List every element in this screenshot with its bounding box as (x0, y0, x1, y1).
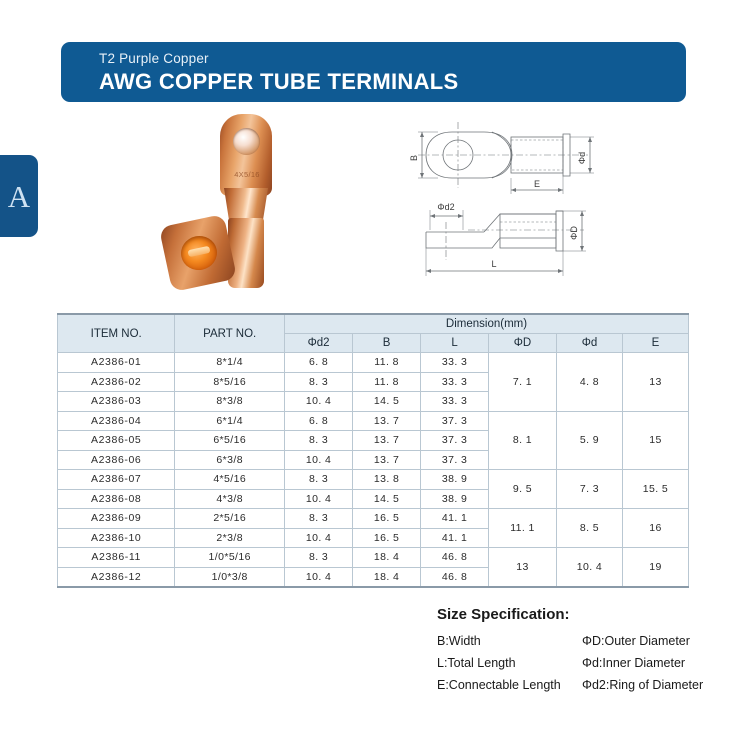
cell-l: 46. 8 (421, 548, 489, 568)
lug-barrel (228, 218, 264, 288)
drawing-side-view (426, 210, 586, 276)
table-row: A2386-092*5/168. 316. 541. 111. 18. 516 (58, 509, 689, 529)
cell-b: 18. 4 (353, 548, 421, 568)
size-spec-right-item: ΦD:Outer Diameter (582, 634, 737, 648)
cell-b: 14. 5 (353, 489, 421, 509)
technical-drawing: B Φd E Φd2 ΦD L (408, 110, 708, 290)
header-part-no: PART NO. (175, 314, 285, 353)
cell-item: A2386-11 (58, 548, 175, 568)
cell-e: 16 (622, 509, 688, 548)
cell-part: 6*5/16 (175, 431, 285, 451)
drawing-label-phi-d2: Φd2 (437, 202, 454, 212)
cell-part: 4*3/8 (175, 489, 285, 509)
lug-neck (224, 188, 268, 222)
cell-phi-d: 7. 3 (556, 470, 622, 509)
table-head: ITEM NO. PART NO. Dimension(mm) Φd2 B L … (58, 314, 689, 353)
cell-b: 14. 5 (353, 392, 421, 412)
cell-phi-d: 4. 8 (556, 353, 622, 412)
cell-phi-D: 8. 1 (489, 411, 557, 470)
cell-b: 18. 4 (353, 567, 421, 587)
cell-b: 13. 7 (353, 431, 421, 451)
drawing-label-e: E (534, 179, 540, 189)
cell-d2: 8. 3 (285, 431, 353, 451)
header-phi-d: Φd (556, 334, 622, 353)
cell-item: A2386-09 (58, 509, 175, 529)
drawing-label-b: B (409, 155, 419, 161)
cell-item: A2386-03 (58, 392, 175, 412)
cell-d2: 6. 8 (285, 411, 353, 431)
cell-part: 2*3/8 (175, 528, 285, 548)
cell-l: 41. 1 (421, 509, 489, 529)
table-row: A2386-046*1/46. 813. 737. 38. 15. 915 (58, 411, 689, 431)
cell-phi-d: 8. 5 (556, 509, 622, 548)
cell-item: A2386-12 (58, 567, 175, 587)
technical-drawing-svg: B Φd E Φd2 ΦD L (408, 110, 708, 290)
cell-item: A2386-04 (58, 411, 175, 431)
cell-d2: 8. 3 (285, 509, 353, 529)
cell-d2: 10. 4 (285, 489, 353, 509)
lug-ring-pad (220, 114, 272, 196)
drawing-label-l: L (491, 259, 496, 269)
cell-e: 13 (622, 353, 688, 412)
cell-l: 38. 9 (421, 470, 489, 490)
cell-l: 37. 3 (421, 450, 489, 470)
size-specification-section: Size Specification: B:WidthΦD:Outer Diam… (437, 606, 737, 692)
lug-stamp-text: 4X5/16 (227, 170, 267, 179)
cell-item: A2386-08 (58, 489, 175, 509)
cell-phi-d: 5. 9 (556, 411, 622, 470)
cell-d2: 8. 3 (285, 548, 353, 568)
size-spec-grid: B:WidthΦD:Outer DiameterL:Total LengthΦd… (437, 634, 737, 692)
drawing-top-view (418, 122, 594, 194)
cell-b: 13. 8 (353, 470, 421, 490)
cell-e: 15. 5 (622, 470, 688, 509)
cell-phi-D: 13 (489, 548, 557, 588)
product-photo: 4X5/16 (165, 112, 360, 297)
table-row: A2386-018*1/46. 811. 833. 37. 14. 813 (58, 353, 689, 373)
cell-item: A2386-06 (58, 450, 175, 470)
index-tab-a[interactable]: A (0, 155, 38, 237)
cell-b: 11. 8 (353, 372, 421, 392)
table-row: A2386-074*5/168. 313. 838. 99. 57. 315. … (58, 470, 689, 490)
cell-l: 46. 8 (421, 567, 489, 587)
cell-d2: 10. 4 (285, 567, 353, 587)
cell-b: 13. 7 (353, 411, 421, 431)
cell-part: 4*5/16 (175, 470, 285, 490)
cell-item: A2386-05 (58, 431, 175, 451)
cell-part: 6*1/4 (175, 411, 285, 431)
table-header-row-1: ITEM NO. PART NO. Dimension(mm) (58, 314, 689, 334)
drawing-label-phi-D: ΦD (569, 226, 579, 240)
cell-d2: 6. 8 (285, 353, 353, 373)
header-dimension-group: Dimension(mm) (285, 314, 689, 334)
cell-phi-D: 11. 1 (489, 509, 557, 548)
size-spec-left-item: E:Connectable Length (437, 678, 582, 692)
specification-table: ITEM NO. PART NO. Dimension(mm) Φd2 B L … (57, 313, 689, 588)
cell-l: 37. 3 (421, 411, 489, 431)
cell-part: 8*3/8 (175, 392, 285, 412)
table-row: A2386-111/0*5/168. 318. 446. 81310. 419 (58, 548, 689, 568)
cell-part: 1/0*3/8 (175, 567, 285, 587)
header-banner: T2 Purple Copper AWG COPPER TUBE TERMINA… (61, 42, 686, 102)
cell-b: 11. 8 (353, 353, 421, 373)
cell-part: 1/0*5/16 (175, 548, 285, 568)
header-item-no: ITEM NO. (58, 314, 175, 353)
header-b: B (353, 334, 421, 353)
cell-b: 13. 7 (353, 450, 421, 470)
banner-title: AWG COPPER TUBE TERMINALS (99, 68, 686, 96)
header-phi-D: ΦD (489, 334, 557, 353)
cell-item: A2386-10 (58, 528, 175, 548)
cell-phi-D: 7. 1 (489, 353, 557, 412)
cell-b: 16. 5 (353, 528, 421, 548)
cell-part: 2*5/16 (175, 509, 285, 529)
cell-item: A2386-01 (58, 353, 175, 373)
size-spec-left-item: L:Total Length (437, 656, 582, 670)
lug-bolt-hole (233, 128, 260, 155)
cell-part: 8*1/4 (175, 353, 285, 373)
cell-d2: 8. 3 (285, 470, 353, 490)
cell-l: 37. 3 (421, 431, 489, 451)
cell-phi-D: 9. 5 (489, 470, 557, 509)
cell-l: 38. 9 (421, 489, 489, 509)
table-body: A2386-018*1/46. 811. 833. 37. 14. 813A23… (58, 353, 689, 588)
size-spec-title: Size Specification: (437, 606, 737, 623)
cell-l: 33. 3 (421, 372, 489, 392)
size-spec-left-item: B:Width (437, 634, 582, 648)
size-spec-right-item: Φd2:Ring of Diameter (582, 678, 737, 692)
size-spec-right-item: Φd:Inner Diameter (582, 656, 737, 670)
cell-l: 33. 3 (421, 353, 489, 373)
cell-item: A2386-02 (58, 372, 175, 392)
cell-item: A2386-07 (58, 470, 175, 490)
cell-part: 8*5/16 (175, 372, 285, 392)
header-l: L (421, 334, 489, 353)
cell-b: 16. 5 (353, 509, 421, 529)
cell-e: 19 (622, 548, 688, 588)
cell-d2: 10. 4 (285, 528, 353, 548)
cell-e: 15 (622, 411, 688, 470)
cell-l: 41. 1 (421, 528, 489, 548)
header-phi-d2: Φd2 (285, 334, 353, 353)
banner-subtitle: T2 Purple Copper (99, 50, 686, 67)
cell-d2: 10. 4 (285, 392, 353, 412)
cell-phi-d: 10. 4 (556, 548, 622, 588)
index-tab-letter: A (8, 181, 30, 212)
cell-part: 6*3/8 (175, 450, 285, 470)
header-e: E (622, 334, 688, 353)
drawing-label-phi-d: Φd (577, 152, 587, 164)
cell-d2: 8. 3 (285, 372, 353, 392)
cell-l: 33. 3 (421, 392, 489, 412)
cell-d2: 10. 4 (285, 450, 353, 470)
copper-lug-second (165, 220, 231, 286)
